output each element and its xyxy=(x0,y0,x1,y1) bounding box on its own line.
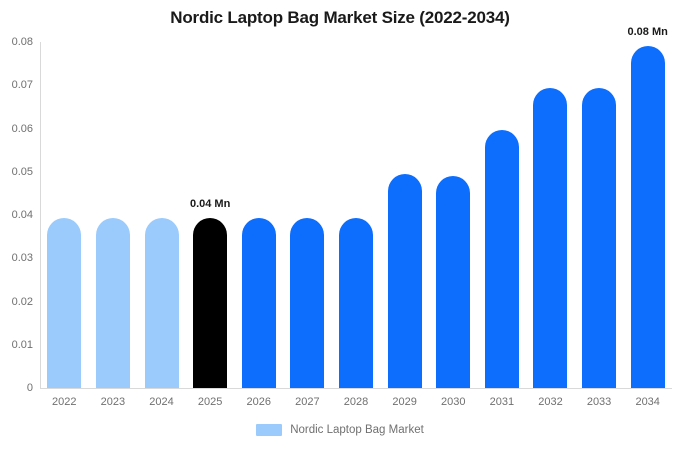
bars-layer: 2022202320240.04 Mn202520262027202820292… xyxy=(40,42,672,388)
y-axis-tick-label: 0.08 xyxy=(12,36,33,48)
bar-2028[interactable] xyxy=(339,218,373,388)
bar-2023[interactable] xyxy=(96,218,130,388)
bar-2031[interactable] xyxy=(485,130,519,388)
bar-group-2023: 2023 xyxy=(96,42,130,388)
legend-swatch-nordic-laptop-bag-market xyxy=(256,424,282,436)
plot-area: 2022202320240.04 Mn202520262027202820292… xyxy=(40,42,672,388)
chart-container: Nordic Laptop Bag Market Size (2022-2034… xyxy=(0,0,680,450)
bar-2032[interactable] xyxy=(533,88,567,388)
y-axis-tick-label: 0.05 xyxy=(12,166,33,178)
x-axis-tick-label-2033: 2033 xyxy=(587,396,611,408)
x-axis-tick-label-2030: 2030 xyxy=(441,396,465,408)
x-axis-tick-label-2028: 2028 xyxy=(344,396,368,408)
bar-group-2034: 0.08 Mn2034 xyxy=(631,42,665,388)
x-axis-tick-label-2027: 2027 xyxy=(295,396,319,408)
bar-group-2026: 2026 xyxy=(242,42,276,388)
x-axis-tick-label-2029: 2029 xyxy=(392,396,416,408)
bar-2022[interactable] xyxy=(47,218,81,388)
bar-2029[interactable] xyxy=(388,174,422,388)
bar-group-2029: 2029 xyxy=(388,42,422,388)
x-axis-line xyxy=(40,388,672,389)
x-axis-tick-label-2023: 2023 xyxy=(101,396,125,408)
chart-legend: Nordic Laptop Bag Market xyxy=(0,424,680,436)
x-axis-tick-label-2025: 2025 xyxy=(198,396,222,408)
bar-group-2030: 2030 xyxy=(436,42,470,388)
x-axis-tick-label-2024: 2024 xyxy=(149,396,173,408)
x-axis-tick-label-2032: 2032 xyxy=(538,396,562,408)
bar-value-label-2034: 0.08 Mn xyxy=(628,26,668,38)
bar-value-label-2025: 0.04 Mn xyxy=(190,198,230,210)
y-axis-tick-label: 0.03 xyxy=(12,252,33,264)
bar-2027[interactable] xyxy=(290,218,324,388)
bar-group-2024: 2024 xyxy=(145,42,179,388)
y-axis-tick-label: 0.02 xyxy=(12,296,33,308)
y-axis-tick-label: 0 xyxy=(27,382,33,394)
legend-label-nordic-laptop-bag-market: Nordic Laptop Bag Market xyxy=(290,424,424,436)
bar-group-2032: 2032 xyxy=(533,42,567,388)
chart-title: Nordic Laptop Bag Market Size (2022-2034… xyxy=(0,8,680,28)
bar-group-2022: 2022 xyxy=(47,42,81,388)
y-axis-tick-label: 0.06 xyxy=(12,123,33,135)
y-axis-tick-label: 0.01 xyxy=(12,339,33,351)
x-axis-tick-label-2022: 2022 xyxy=(52,396,76,408)
x-axis-tick-label-2031: 2031 xyxy=(490,396,514,408)
x-axis-tick-label-2034: 2034 xyxy=(635,396,659,408)
bar-2026[interactable] xyxy=(242,218,276,388)
bar-group-2028: 2028 xyxy=(339,42,373,388)
bar-2024[interactable] xyxy=(145,218,179,388)
bar-group-2027: 2027 xyxy=(290,42,324,388)
bar-2033[interactable] xyxy=(582,88,616,388)
bar-2034[interactable] xyxy=(631,46,665,388)
bar-group-2025: 0.04 Mn2025 xyxy=(193,42,227,388)
bar-2025[interactable] xyxy=(193,218,227,388)
y-axis-tick-label: 0.04 xyxy=(12,209,33,221)
x-axis-tick-label-2026: 2026 xyxy=(247,396,271,408)
bar-group-2031: 2031 xyxy=(485,42,519,388)
bar-group-2033: 2033 xyxy=(582,42,616,388)
y-axis-tick-label: 0.07 xyxy=(12,79,33,91)
bar-2030[interactable] xyxy=(436,176,470,388)
